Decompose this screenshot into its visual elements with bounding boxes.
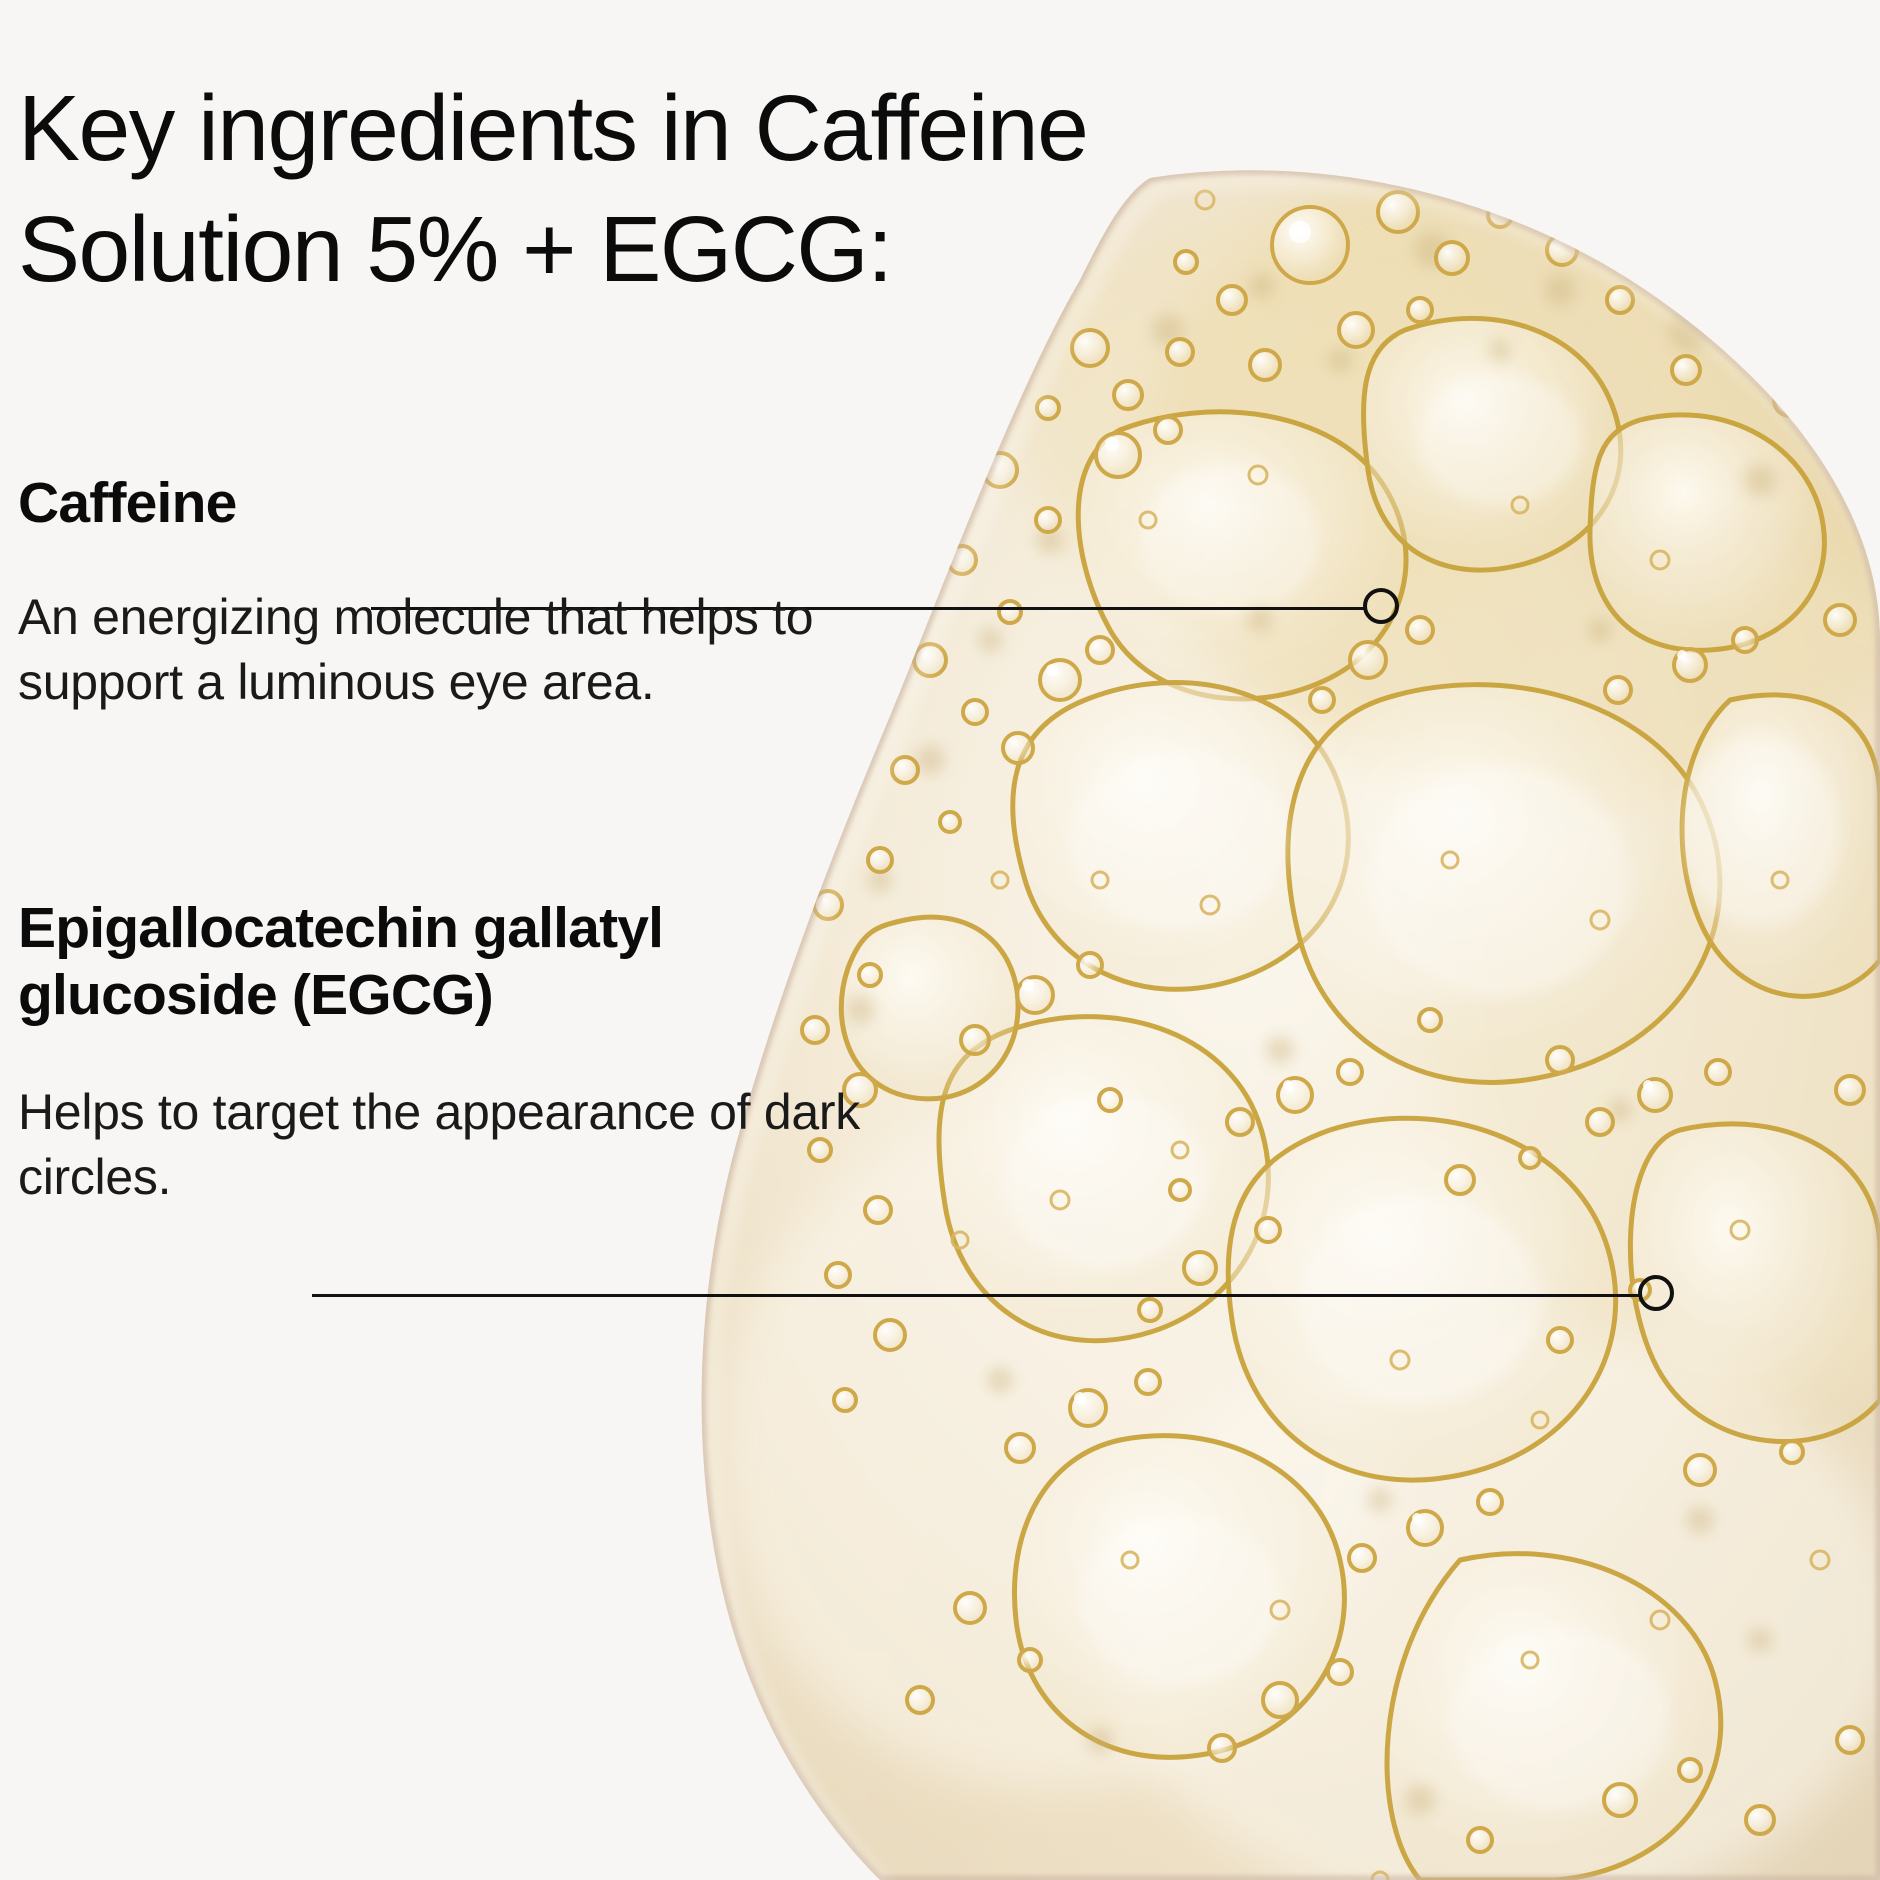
ingredient-block-caffeine: Caffeine An energizing molecule that hel…: [18, 470, 878, 715]
egcg-leader-line: [312, 1275, 1677, 1315]
ingredient-block-egcg: Epigallocatechin gallatyl glucoside (EGC…: [18, 895, 878, 1210]
leader-line-stroke: [312, 1294, 1642, 1297]
ingredient-name: Epigallocatechin gallatyl glucoside (EGC…: [18, 895, 878, 1028]
ingredient-name: Caffeine: [18, 470, 878, 537]
ingredient-description: Helps to target the appearance of dark c…: [18, 1080, 878, 1210]
poster-canvas: Key ingredients in Caffeine Solution 5% …: [0, 0, 1880, 1880]
leader-circle-marker-icon: [1638, 1275, 1674, 1311]
page-title: Key ingredients in Caffeine Solution 5% …: [18, 68, 1118, 310]
ingredient-description: An energizing molecule that helps to sup…: [18, 585, 878, 715]
leader-circle-marker-icon: [1363, 588, 1399, 624]
